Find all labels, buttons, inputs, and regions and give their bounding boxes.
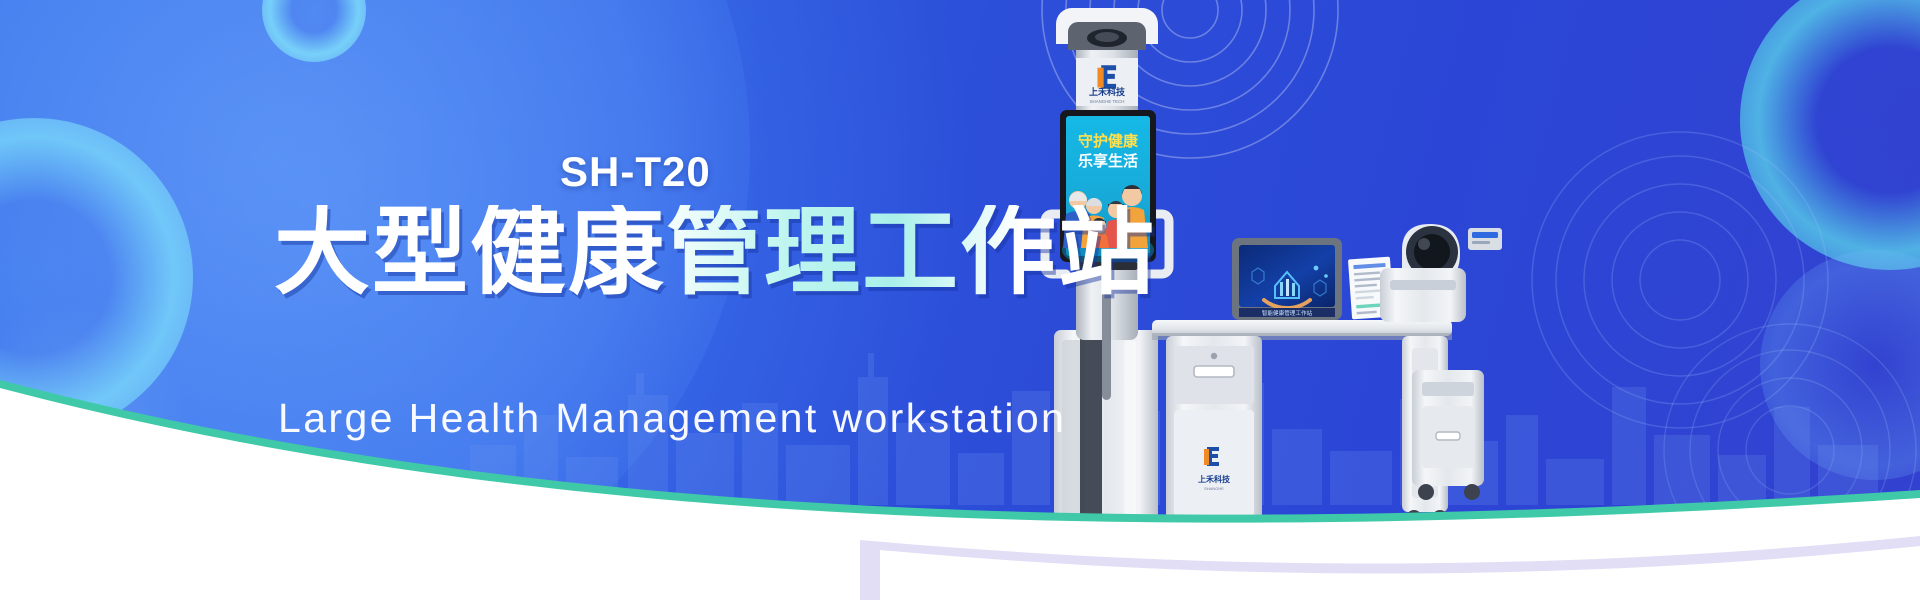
kiosk-brand-sub: SHANGHE TECH [1090,99,1125,104]
kiosk-head [1056,8,1158,50]
product-banner: 上禾科技 SHANGHE TECH 守护健康 乐享生活 [0,0,1920,600]
headline-block: SH-T20 大型健康管理工作站 Large Health Management… [0,0,1060,600]
page-subtitle: Large Health Management workstation [278,395,1066,442]
model-code: SH-T20 [560,148,711,196]
desk-monitor: 智能健康管理工作站 [1232,238,1342,320]
poster-line-1: 守护健康 [1078,132,1139,150]
kiosk-brand-label: 上禾科技 [1089,86,1126,97]
poster-line-2: 乐享生活 [1078,152,1138,170]
device-tag [1468,228,1502,250]
monitor-caption: 智能健康管理工作站 [1262,309,1313,317]
bp-analyzer-device [1380,224,1466,322]
page-title: 大型健康管理工作站 [274,205,1156,301]
kiosk-brand-logo: 上禾科技 SHANGHE TECH [1076,58,1138,106]
